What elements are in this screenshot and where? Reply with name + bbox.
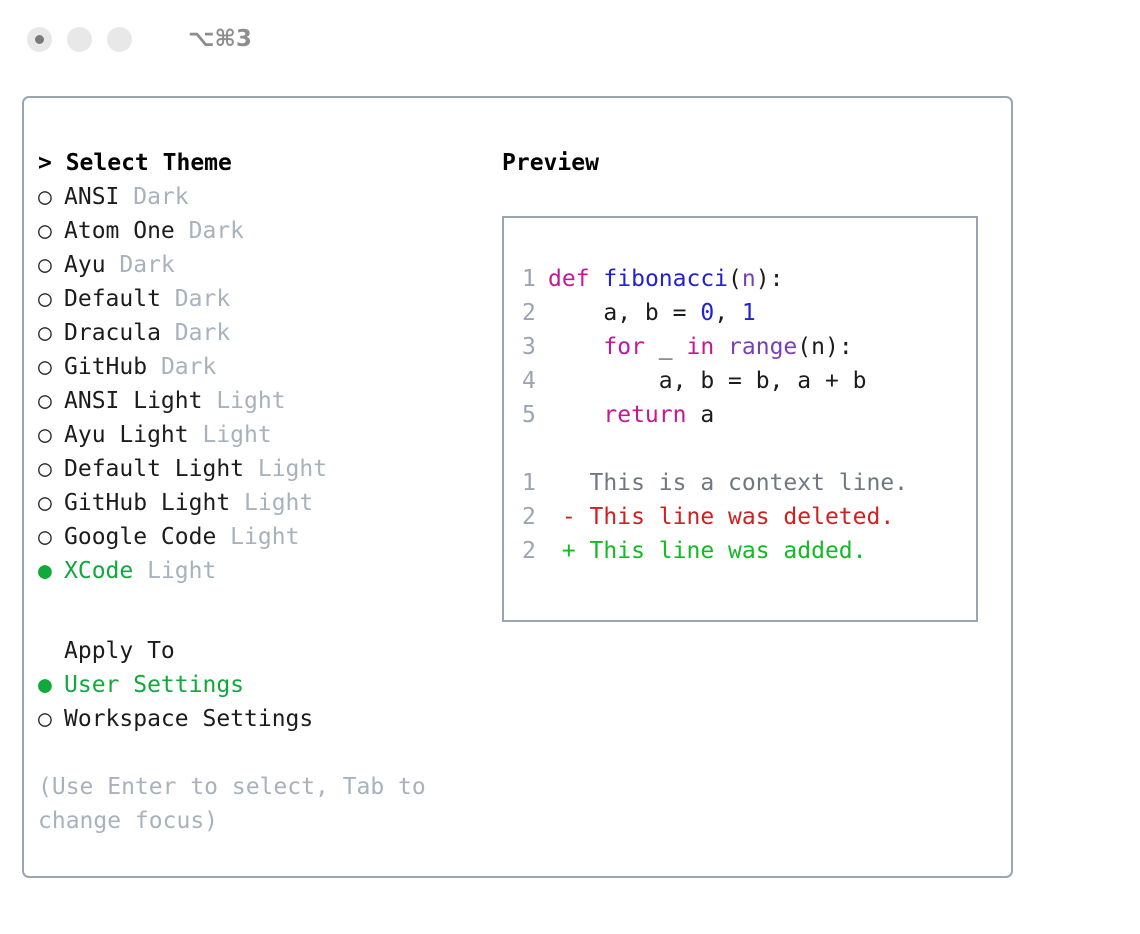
theme-option-label: XCode (64, 558, 133, 584)
apply-to-list: ●User Settings○Workspace Settings (38, 668, 498, 736)
code-token: def (548, 266, 590, 292)
theme-option-variant: Dark (161, 286, 230, 312)
theme-option-google-code[interactable]: ○Google Code Light (38, 520, 498, 554)
theme-option-label: GitHub Light (64, 490, 230, 516)
theme-option-variant: Light (133, 558, 216, 584)
code-token: in (686, 334, 714, 360)
diff-sample: 1 This is a context line.2 - This line w… (522, 466, 976, 568)
code-token: ( (728, 266, 742, 292)
diff-line-del: 2 - This line was deleted. (522, 500, 976, 534)
spacer (38, 588, 498, 634)
apply-to-option-label: User Settings (64, 672, 244, 698)
radio-unselected-icon: ○ (38, 282, 64, 316)
radio-unselected-icon: ○ (38, 418, 64, 452)
code-token: for (603, 334, 645, 360)
code-line: 4 a, b = b, a + b (522, 364, 976, 398)
line-number: 5 (522, 398, 548, 432)
code-token: return (603, 402, 686, 428)
theme-option-variant: Dark (106, 252, 175, 278)
traffic-dot-2-icon[interactable] (67, 27, 92, 52)
theme-option-ayu-light[interactable]: ○Ayu Light Light (38, 418, 498, 452)
theme-option-label: Google Code (64, 524, 216, 550)
diff-line-text: - This line was deleted. (548, 504, 894, 530)
radio-unselected-icon: ○ (38, 520, 64, 554)
code-token: _ (645, 334, 687, 360)
theme-option-ayu[interactable]: ○Ayu Dark (38, 248, 498, 282)
theme-option-ansi[interactable]: ○ANSI Dark (38, 180, 498, 214)
spacer (522, 432, 976, 466)
code-token (714, 334, 728, 360)
apply-to-option-user-settings[interactable]: ●User Settings (38, 668, 498, 702)
line-number: 1 (522, 466, 548, 500)
apply-to-option-workspace-settings[interactable]: ○Workspace Settings (38, 702, 498, 736)
theme-option-atom-one[interactable]: ○Atom One Dark (38, 214, 498, 248)
window-content: > Select Theme ○ANSI Dark○Atom One Dark○… (24, 98, 1011, 876)
theme-option-variant: Dark (147, 354, 216, 380)
theme-option-variant: Light (189, 422, 272, 448)
code-token: a, b = b, a + b (548, 368, 867, 394)
theme-option-default-light[interactable]: ○Default Light Light (38, 452, 498, 486)
theme-option-label: Dracula (64, 320, 161, 346)
main-window: > Select Theme ○ANSI Dark○Atom One Dark○… (22, 96, 1013, 878)
line-number: 2 (522, 534, 548, 568)
theme-option-github[interactable]: ○GitHub Dark (38, 350, 498, 384)
line-number: 1 (522, 262, 548, 296)
radio-selected-icon: ● (38, 554, 64, 588)
code-token: a, b = (548, 300, 700, 326)
theme-option-variant: Light (202, 388, 285, 414)
code-sample: 1def fibonacci(n):2 a, b = 0, 13 for _ i… (522, 262, 976, 432)
theme-list: ○ANSI Dark○Atom One Dark○Ayu Dark○Defaul… (38, 180, 498, 588)
theme-option-default[interactable]: ○Default Dark (38, 282, 498, 316)
radio-unselected-icon: ○ (38, 350, 64, 384)
theme-option-label: GitHub (64, 354, 147, 380)
theme-option-xcode[interactable]: ●XCode Light (38, 554, 498, 588)
code-token (548, 402, 603, 428)
code-token: , (714, 300, 742, 326)
code-line: 3 for _ in range(n): (522, 330, 976, 364)
line-number: 2 (522, 500, 548, 534)
radio-selected-icon: ● (38, 668, 64, 702)
radio-unselected-icon: ○ (38, 248, 64, 282)
theme-option-variant: Dark (175, 218, 244, 244)
code-token (548, 334, 603, 360)
spacer (38, 736, 498, 770)
select-theme-header: > Select Theme (38, 146, 498, 180)
keyboard-shortcut-label: ⌥⌘3 (188, 26, 252, 52)
diff-line-ctx: 1 This is a context line. (522, 466, 976, 500)
line-number: 2 (522, 296, 548, 330)
radio-unselected-icon: ○ (38, 702, 64, 736)
preview-panel: Preview 1def fibonacci(n):2 a, b = 0, 13… (502, 146, 1002, 622)
radio-unselected-icon: ○ (38, 486, 64, 520)
theme-option-label: Ayu Light (64, 422, 189, 448)
code-line: 2 a, b = 0, 1 (522, 296, 976, 330)
apply-to-title: Apply To (38, 634, 498, 668)
code-token (590, 266, 604, 292)
keyboard-hint-text: (Use Enter to select, Tab to change focu… (38, 770, 442, 838)
theme-option-variant: Light (244, 456, 327, 482)
traffic-dot-inner-icon (35, 35, 44, 44)
theme-option-label: Default Light (64, 456, 244, 482)
radio-unselected-icon: ○ (38, 384, 64, 418)
radio-unselected-icon: ○ (38, 180, 64, 214)
theme-option-label: Atom One (64, 218, 175, 244)
theme-option-ansi-light[interactable]: ○ANSI Light Light (38, 384, 498, 418)
theme-option-label: Ayu (64, 252, 106, 278)
code-line: 5 return a (522, 398, 976, 432)
code-token: fibonacci (603, 266, 728, 292)
theme-option-label: Default (64, 286, 161, 312)
code-token: n (742, 266, 756, 292)
theme-option-variant: Dark (161, 320, 230, 346)
theme-option-github-light[interactable]: ○GitHub Light Light (38, 486, 498, 520)
theme-option-label: ANSI Light (64, 388, 202, 414)
title-bar: ⌥⌘3 (0, 0, 1140, 78)
apply-to-option-label: Workspace Settings (64, 706, 313, 732)
theme-option-variant: Light (230, 490, 313, 516)
code-token: range (728, 334, 797, 360)
diff-line-text: This is a context line. (548, 470, 908, 496)
theme-option-variant: Light (216, 524, 299, 550)
diff-line-text: + This line was added. (548, 538, 867, 564)
diff-line-add: 2 + This line was added. (522, 534, 976, 568)
code-token: 0 (700, 300, 714, 326)
preview-box: 1def fibonacci(n):2 a, b = 0, 13 for _ i… (502, 216, 978, 622)
radio-unselected-icon: ○ (38, 214, 64, 248)
theme-option-variant: Dark (119, 184, 188, 210)
code-token: 1 (742, 300, 756, 326)
traffic-dot-active-icon[interactable] (27, 27, 52, 52)
line-number: 4 (522, 364, 548, 398)
code-token: a (686, 402, 714, 428)
app-page: ⌥⌘3 > Select Theme ○ANSI Dark○Atom One D… (0, 0, 1140, 934)
radio-unselected-icon: ○ (38, 316, 64, 350)
code-line: 1def fibonacci(n): (522, 262, 976, 296)
traffic-dot-3-icon[interactable] (107, 27, 132, 52)
code-token: ): (756, 266, 784, 292)
preview-title: Preview (502, 146, 1002, 180)
theme-option-dracula[interactable]: ○Dracula Dark (38, 316, 498, 350)
radio-unselected-icon: ○ (38, 452, 64, 486)
line-number: 3 (522, 330, 548, 364)
theme-selector-panel: > Select Theme ○ANSI Dark○Atom One Dark○… (38, 146, 498, 838)
code-token: (n): (797, 334, 852, 360)
theme-option-label: ANSI (64, 184, 119, 210)
